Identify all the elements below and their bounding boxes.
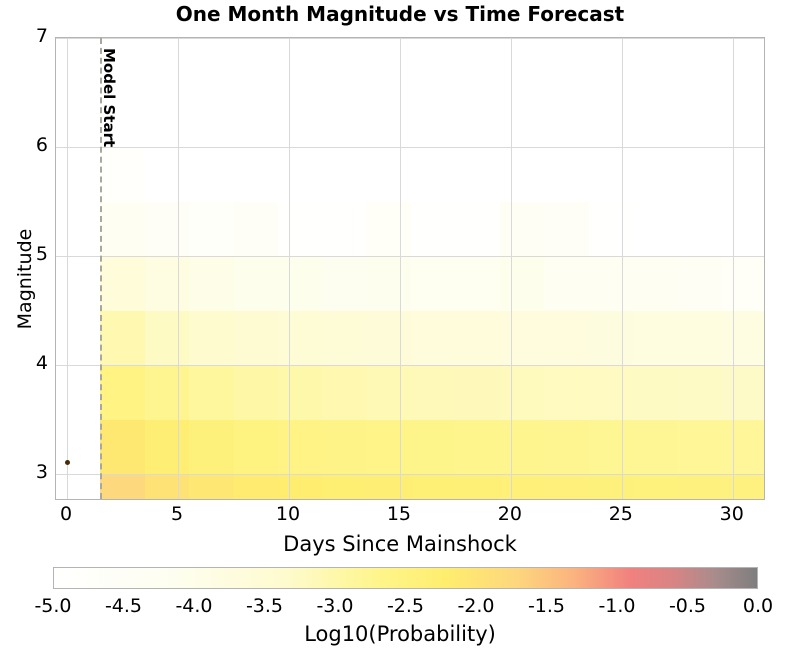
heatmap-cell: [189, 147, 234, 202]
heatmap-cell: [145, 365, 190, 420]
heatmap-cell: [544, 365, 589, 420]
gridline-horizontal: [56, 474, 764, 475]
heatmap-cell: [722, 92, 765, 147]
heatmap-cell: [411, 365, 456, 420]
heatmap-cell: [234, 147, 279, 202]
heatmap-cell: [100, 201, 145, 256]
heatmap-cell: [455, 256, 500, 311]
heatmap-cell: [633, 201, 678, 256]
heatmap-cell: [100, 365, 145, 420]
heatmap-cell: [633, 419, 678, 474]
heatmap-cell: [633, 256, 678, 311]
heatmap-cell: [367, 365, 412, 420]
gridline-vertical: [178, 38, 179, 499]
heatmap-cell: [677, 92, 722, 147]
y-tick-label: 7: [36, 27, 48, 46]
heatmap-cell: [722, 310, 765, 365]
heatmap-cell: [589, 38, 634, 93]
heatmap-cell: [455, 147, 500, 202]
gridline-horizontal: [56, 365, 764, 366]
heatmap-cell: [544, 201, 589, 256]
heatmap-cell: [322, 92, 367, 147]
heatmap-cell: [100, 310, 145, 365]
heatmap-cell: [633, 365, 678, 420]
heatmap-cell: [677, 310, 722, 365]
x-tick-label: 10: [258, 503, 318, 525]
colorbar-tick-label: -3.5: [230, 595, 300, 617]
heatmap-cell: [633, 92, 678, 147]
heatmap-cell: [500, 256, 545, 311]
heatmap-cell: [633, 310, 678, 365]
heatmap-cell: [234, 92, 279, 147]
heatmap-cell: [589, 365, 634, 420]
colorbar-tick-label: -4.5: [89, 595, 159, 617]
gridline-horizontal: [56, 147, 764, 148]
gridline-vertical: [400, 38, 401, 499]
heatmap-cell: [455, 365, 500, 420]
heatmap-cell: [145, 147, 190, 202]
gridline-vertical: [289, 38, 290, 499]
heatmap-cell: [100, 256, 145, 311]
colorbar-tick-label: -0.5: [653, 595, 723, 617]
heatmap-cell: [544, 38, 589, 93]
heatmap-cell: [322, 256, 367, 311]
heatmap-cell: [722, 365, 765, 420]
heatmap-cell: [367, 147, 412, 202]
x-tick-label: 0: [36, 503, 96, 525]
heatmap-cell: [411, 147, 456, 202]
heatmap-cell: [367, 256, 412, 311]
heatmap-cell: [411, 256, 456, 311]
heatmap-cell: [544, 92, 589, 147]
heatmap-cell: [500, 38, 545, 93]
heatmap-cell: [322, 38, 367, 93]
heatmap-cell: [455, 419, 500, 474]
heatmap-cell: [189, 201, 234, 256]
heatmap-cell: [411, 92, 456, 147]
model-start-label: Model Start: [100, 48, 118, 147]
heatmap-cell: [367, 201, 412, 256]
heatmap-cell: [500, 419, 545, 474]
heatmap-cell: [589, 256, 634, 311]
heatmap-cell: [633, 38, 678, 93]
heatmap-cell: [234, 365, 279, 420]
heatmap-cell: [234, 310, 279, 365]
heatmap-cell: [189, 92, 234, 147]
heatmap-cell: [411, 419, 456, 474]
heatmap-cell: [189, 38, 234, 93]
heatmap-cell: [278, 201, 323, 256]
x-tick-label: 20: [480, 503, 540, 525]
heatmap-cell: [500, 92, 545, 147]
heatmap-cell: [633, 474, 678, 500]
heatmap-cell: [145, 310, 190, 365]
heatmap-cell: [100, 147, 145, 202]
colorbar-tick-label: -1.5: [512, 595, 582, 617]
gridline-vertical: [622, 38, 623, 499]
heatmap-cells-layer: [56, 38, 764, 499]
heatmap-cell: [278, 310, 323, 365]
heatmap-cell: [145, 419, 190, 474]
colorbar-tick-label: -2.5: [371, 595, 441, 617]
heatmap-cell: [145, 201, 190, 256]
heatmap-cell: [189, 419, 234, 474]
gridline-vertical: [67, 38, 68, 499]
heatmap-cell: [278, 474, 323, 500]
heatmap-cell: [367, 92, 412, 147]
heatmap-cell: [500, 310, 545, 365]
heatmap-cell: [455, 92, 500, 147]
heatmap-cell: [544, 147, 589, 202]
gridline-horizontal: [56, 256, 764, 257]
heatmap-cell: [234, 201, 279, 256]
colorbar-gradient: [53, 567, 758, 589]
y-axis-title: Magnitude: [14, 189, 36, 369]
heatmap-cell: [145, 256, 190, 311]
heatmap-cell: [189, 365, 234, 420]
heatmap-cell: [677, 38, 722, 93]
heatmap-cell: [589, 92, 634, 147]
heatmap-cell: [322, 419, 367, 474]
colorbar-tick-label: -3.0: [300, 595, 370, 617]
heatmap-cell: [677, 201, 722, 256]
heatmap-cell: [100, 419, 145, 474]
heatmap-cell: [677, 474, 722, 500]
colorbar-title: Log10(Probability): [0, 622, 800, 646]
heatmap-cell: [455, 474, 500, 500]
heatmap-cell: [189, 310, 234, 365]
heatmap-cell: [234, 474, 279, 500]
heatmap-cell: [544, 256, 589, 311]
heatmap-cell: [544, 474, 589, 500]
heatmap-cell: [322, 201, 367, 256]
colorbar-tick-label: -5.0: [18, 595, 88, 617]
heatmap-cell: [500, 201, 545, 256]
heatmap-cell: [278, 419, 323, 474]
heatmap-cell: [367, 474, 412, 500]
colorbar: -5.0-4.5-4.0-3.5-3.0-2.5-2.0-1.5-1.0-0.5…: [0, 560, 800, 650]
heatmap-cell: [589, 419, 634, 474]
heatmap-cell: [322, 147, 367, 202]
heatmap-cell: [589, 310, 634, 365]
heatmap-cell: [145, 474, 190, 500]
colorbar-tick-label: -2.0: [441, 595, 511, 617]
heatmap-cell: [145, 92, 190, 147]
y-tick-label: 5: [36, 245, 48, 264]
x-axis-title: Days Since Mainshock: [0, 532, 800, 556]
heatmap-cell: [411, 201, 456, 256]
gridline-vertical: [733, 38, 734, 499]
heatmap-cell: [411, 310, 456, 365]
heatmap-cell: [145, 38, 190, 93]
heatmap-cell: [234, 419, 279, 474]
heatmap-plot-area: Model Start: [55, 37, 765, 500]
heatmap-cell: [677, 365, 722, 420]
gridline-vertical: [511, 38, 512, 499]
heatmap-cell: [677, 147, 722, 202]
heatmap-cell: [411, 38, 456, 93]
heatmap-cell: [189, 256, 234, 311]
heatmap-cell: [722, 256, 765, 311]
heatmap-cell: [722, 147, 765, 202]
colorbar-tick-label: 0.0: [723, 595, 793, 617]
heatmap-cell: [500, 147, 545, 202]
heatmap-cell: [677, 256, 722, 311]
heatmap-cell: [589, 147, 634, 202]
heatmap-cell: [100, 474, 145, 500]
heatmap-cell: [278, 92, 323, 147]
heatmap-cell: [278, 256, 323, 311]
x-tick-label: 30: [702, 503, 762, 525]
heatmap-cell: [367, 419, 412, 474]
heatmap-cell: [722, 419, 765, 474]
heatmap-cell: [722, 38, 765, 93]
colorbar-tick-label: -1.0: [582, 595, 652, 617]
heatmap-cell: [322, 310, 367, 365]
heatmap-cell: [367, 310, 412, 365]
heatmap-cell: [633, 147, 678, 202]
gridline-horizontal: [56, 38, 764, 39]
x-tick-label: 25: [591, 503, 651, 525]
heatmap-cell: [455, 38, 500, 93]
heatmap-cell: [278, 147, 323, 202]
y-tick-label: 3: [36, 463, 48, 482]
heatmap-cell: [544, 310, 589, 365]
heatmap-cell: [234, 38, 279, 93]
y-tick-label: 6: [36, 136, 48, 155]
x-tick-label: 5: [147, 503, 207, 525]
heatmap-cell: [189, 474, 234, 500]
heatmap-cell: [234, 256, 279, 311]
heatmap-cell: [722, 474, 765, 500]
heatmap-cell: [455, 201, 500, 256]
y-tick-label: 4: [36, 354, 48, 373]
heatmap-cell: [500, 365, 545, 420]
page-title: One Month Magnitude vs Time Forecast: [0, 2, 800, 26]
heatmap-cell: [278, 38, 323, 93]
heatmap-cell: [455, 310, 500, 365]
heatmap-cell: [278, 365, 323, 420]
heatmap-cell: [722, 201, 765, 256]
heatmap-cell: [322, 365, 367, 420]
colorbar-tick-label: -4.0: [159, 595, 229, 617]
heatmap-cell: [367, 38, 412, 93]
heatmap-cell: [589, 474, 634, 500]
heatmap-cell: [322, 474, 367, 500]
x-tick-label: 15: [369, 503, 429, 525]
heatmap-cell: [677, 419, 722, 474]
heatmap-cell: [411, 474, 456, 500]
heatmap-cell: [589, 201, 634, 256]
heatmap-cell: [544, 419, 589, 474]
heatmap-cell: [500, 474, 545, 500]
